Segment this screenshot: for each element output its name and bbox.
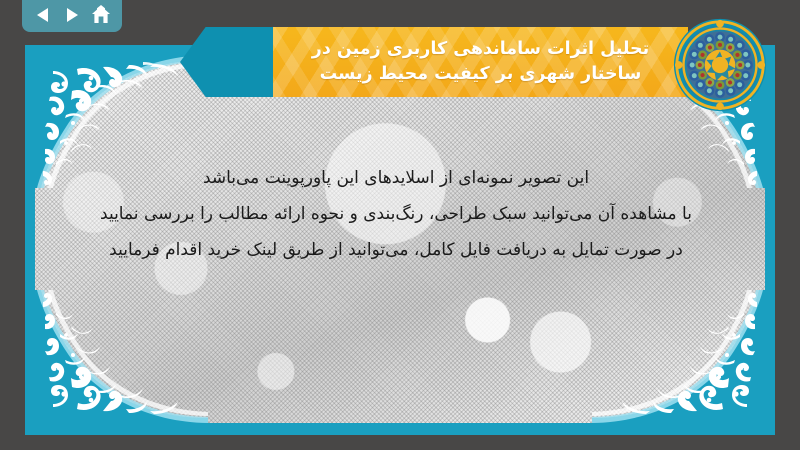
navigation-bar — [22, 0, 122, 32]
body-line-2: با مشاهده آن می‌توانید سبک طراحی، رنگ‌بن… — [55, 196, 737, 232]
slide-content-area: این تصویر نمونه‌ای از اسلایدهای این پاور… — [35, 55, 765, 423]
arabesque-corner-icon-bottom-left — [35, 290, 208, 423]
title-banner: تحلیل اثرات ساماندهی کاربری زمین در ساخت… — [180, 27, 740, 97]
banner-body: تحلیل اثرات ساماندهی کاربری زمین در ساخت… — [273, 27, 688, 97]
persian-medallion-ornament-icon — [672, 17, 768, 113]
slide-body-text: این تصویر نمونه‌ای از اسلایدهای این پاور… — [55, 160, 737, 268]
body-line-1: این تصویر نمونه‌ای از اسلایدهای این پاور… — [55, 160, 737, 196]
previous-slide-button[interactable] — [31, 3, 55, 27]
arabesque-corner-icon-bottom-right — [592, 290, 765, 423]
slide-viewer: این تصویر نمونه‌ای از اسلایدهای این پاور… — [0, 0, 800, 450]
banner-arrow-tail — [180, 27, 275, 97]
home-button[interactable] — [89, 3, 113, 27]
next-slide-button[interactable] — [60, 3, 84, 27]
page-title: تحلیل اثرات ساماندهی کاربری زمین در ساخت… — [298, 37, 663, 88]
next-triangle-icon — [62, 5, 82, 25]
previous-triangle-icon — [33, 5, 53, 25]
body-line-3: در صورت تمایل به دریافت فایل کامل، می‌تو… — [55, 232, 737, 268]
home-icon — [90, 5, 112, 25]
slide-frame: این تصویر نمونه‌ای از اسلایدهای این پاور… — [25, 45, 775, 435]
